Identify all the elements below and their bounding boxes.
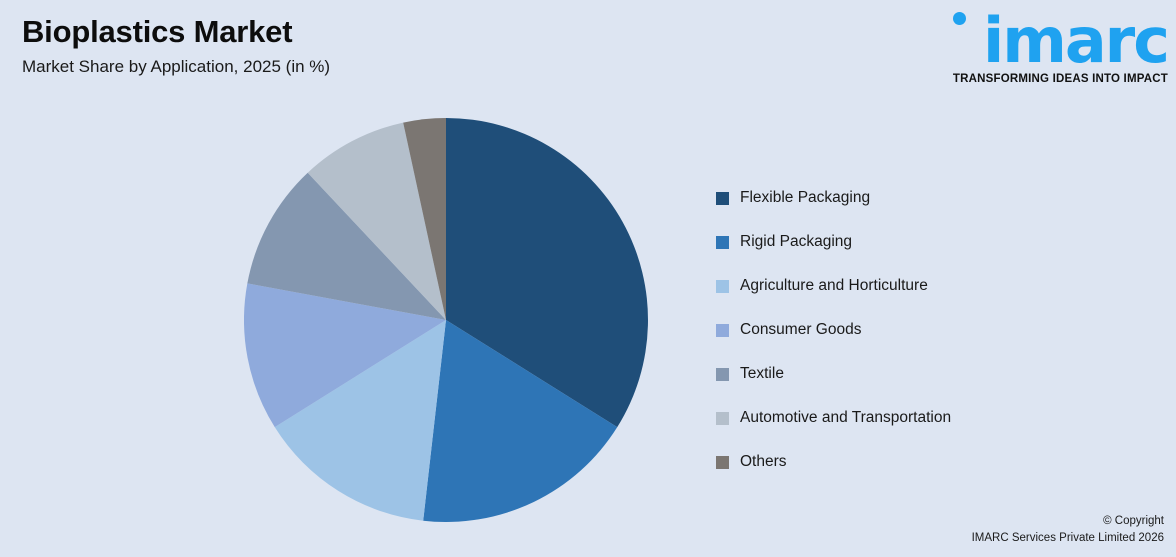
pie-slice-group: [244, 118, 648, 522]
page-title: Bioplastics Market: [22, 14, 722, 50]
logo-mark: imarc: [928, 10, 1168, 72]
legend-item-label: Automotive and Transportation: [740, 409, 951, 427]
legend-color-swatch: [716, 324, 729, 337]
imarc-logo: imarc TRANSFORMING IDEAS INTO IMPACT: [928, 10, 1168, 85]
chart-subtitle: Market Share by Application, 2025 (in %): [22, 57, 722, 77]
legend-color-swatch: [716, 412, 729, 425]
legend-item[interactable]: Textile: [716, 352, 1146, 396]
chart-legend: Flexible PackagingRigid PackagingAgricul…: [716, 176, 1146, 484]
legend-item[interactable]: Agriculture and Horticulture: [716, 264, 1146, 308]
chart-page: Bioplastics Market Market Share by Appli…: [0, 0, 1176, 557]
legend-item[interactable]: Automotive and Transportation: [716, 396, 1146, 440]
legend-item-label: Others: [740, 453, 787, 471]
legend-item-label: Consumer Goods: [740, 321, 861, 339]
legend-color-swatch: [716, 280, 729, 293]
legend-item[interactable]: Rigid Packaging: [716, 220, 1146, 264]
legend-item[interactable]: Consumer Goods: [716, 308, 1146, 352]
legend-color-swatch: [716, 192, 729, 205]
legend-color-swatch: [716, 368, 729, 381]
legend-item-label: Flexible Packaging: [740, 189, 870, 207]
copyright-notice: © Copyright IMARC Services Private Limit…: [972, 513, 1164, 548]
legend-color-swatch: [716, 236, 729, 249]
legend-item[interactable]: Flexible Packaging: [716, 176, 1146, 220]
legend-color-swatch: [716, 456, 729, 469]
chart-header: Bioplastics Market Market Share by Appli…: [22, 14, 722, 77]
pie-chart: [244, 118, 648, 522]
legend-item-label: Textile: [740, 365, 784, 383]
legend-item-label: Rigid Packaging: [740, 233, 852, 251]
copyright-line-1: © Copyright: [972, 513, 1164, 530]
logo-wordmark: imarc: [983, 10, 1168, 72]
legend-item[interactable]: Others: [716, 440, 1146, 484]
pie-chart-svg: [244, 118, 648, 522]
copyright-line-2: IMARC Services Private Limited 2026: [972, 530, 1164, 547]
legend-item-label: Agriculture and Horticulture: [740, 277, 928, 295]
logo-dot-icon: [953, 12, 966, 25]
